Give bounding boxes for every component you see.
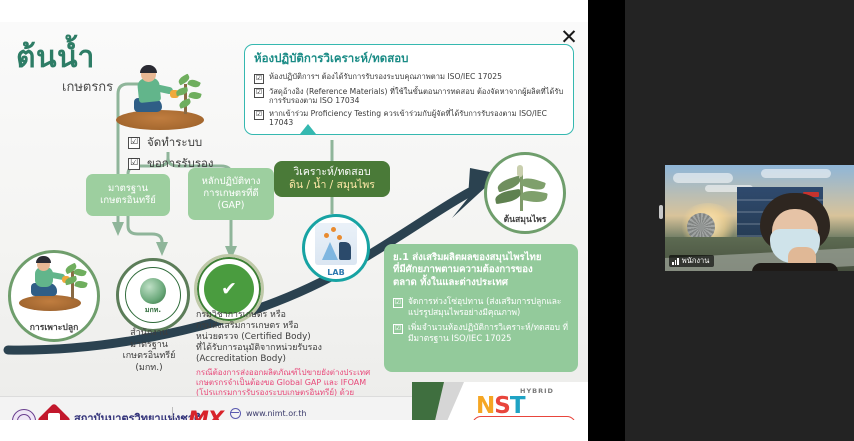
herb-label: ต้นสมุนไพร [487,212,563,226]
department-text: กรมวิชาการเกษตร หรือ กรมส่งเสริมการเกษตร… [196,310,392,365]
organic-standard-box: มาตรฐาน เกษตรอินทรีย์ [86,174,170,216]
footer-divider [172,407,173,420]
strategy-title: ย.1 ส่งเสริมผลิตผลของสมุนไพรไทย ที่มีศัก… [393,252,569,289]
url-row[interactable]: www.nimt.or.th [230,408,327,419]
mx-logo: MX [188,407,223,420]
microscope-icon [339,242,351,260]
farmer-checklist-text: จัดทำระบบ [147,134,202,152]
video-drag-handle[interactable] [659,205,663,219]
nst-hybrid-label: HYBRID [520,387,554,395]
lab-requirement-text: วัสดุอ้างอิง (Reference Materials) ที่ใช… [269,87,565,106]
nst-fair-year: 2O2O [522,419,556,421]
molecule-icon [324,227,342,241]
farmer-illustration [112,62,212,132]
strategy-item: ☑ เพิ่มจำนวนห้องปฏิบัติการวิเคราะห์/ทดสอ… [393,322,569,343]
flask-icon [322,242,338,260]
lab-requirements-box: ห้องปฏิบัติการวิเคราะห์/ทดสอบ ☑ ห้องปฏิบ… [244,44,574,135]
participant-name: พนักงาน [682,255,710,267]
checkbox-icon: ☑ [393,298,403,308]
checkbox-icon: ☑ [254,110,264,120]
department-description: กรมวิชาการเกษตร หรือ กรมส่งเสริมการเกษตร… [196,310,392,398]
panel-gutter [588,0,625,441]
cultivation-node: การเพาะปลูก [8,250,100,342]
globe-icon [230,408,241,419]
gap-practice-box: หลักปฏิบัติทาง การเกษตรที่ดี (GAP) [188,168,274,220]
checkbox-icon: ☑ [128,137,140,149]
presentation-slide: ต้นน้ำ เกษตรกร ห้องปฏิบัติการวิเ [0,22,588,420]
strategy-item-text: จัดการห่วงโซ่อุปทาน (ส่งเสริมการปลูกและแ… [408,296,569,317]
checkbox-icon: ☑ [254,74,264,84]
lab-label: LAB [305,268,367,277]
mkk-badge-label: มกท. [145,305,161,316]
mkk-certification-node: มกท. [116,258,190,332]
slide-top-margin [0,0,588,22]
lab-requirement-item: ☑ ห้องปฏิบัติการฯ ต้องได้รับการรับรองระบ… [254,72,565,84]
lab-requirement-item: ☑ วัสดุอ้างอิง (Reference Materials) ที่… [254,87,565,106]
farmer-checklist-item: ☑ จัดทำระบบ [128,134,214,152]
strategy-panel: ย.1 ส่งเสริมผลิตผลของสมุนไพรไทย ที่มีศัก… [384,244,578,372]
close-icon[interactable]: ✕ [558,26,580,48]
analysis-test-title: วิเคราะห์/ทดสอบ [293,166,370,179]
signal-bars-icon [672,257,679,265]
app-root: ✕ [0,0,854,441]
footer-urls: www.nimt.or.th http://mx.nimt.or.th/ [230,408,327,420]
farmer-label: เกษตรกร [62,76,113,97]
callout-pointer-icon [300,124,316,134]
herb-node: ต้นสมุนไพร [484,152,566,234]
check-icon: ✔ [204,264,254,314]
nst-fair-label: FAIR [492,419,519,421]
nimt-logo-icon [37,403,71,420]
participant-avatar [752,193,838,271]
lab-requirement-text: ห้องปฏิบัติการฯ ต้องได้รับการรับรองระบบค… [269,72,502,82]
page-title: ต้นน้ำ [16,34,95,81]
participant-name-badge: พนักงาน [669,255,714,267]
video-rail: พนักงาน [625,0,854,441]
lab-node: LAB [302,214,370,282]
slide-bottom-margin [0,420,588,441]
nst-fair-badge: FAIR 2O2O [472,416,576,420]
mkk-globe-icon [140,278,166,304]
cultivation-label: การเพาะปลูก [11,320,97,334]
analysis-test-box: วิเคราะห์/ทดสอบ ดิน / น้ำ / สมุนไพร [274,161,390,197]
checkbox-icon: ☑ [254,88,264,98]
screen-share-panel: ✕ [0,0,588,441]
checkbox-icon: ☑ [393,324,403,334]
mkk-caption: สำนักงาน มาตรฐาน เกษตรอินทรีย์ (มกท.) [110,328,188,374]
checkbox-icon: ☑ [128,158,140,170]
lab-requirements-title: ห้องปฏิบัติการวิเคราะห์/ทดสอบ [254,50,565,68]
export-note: กรณีต้องการส่งออกผลิตภัณฑ์ไปขายยังต่างปร… [196,368,392,398]
strategy-item-text: เพิ่มจำนวนห้องปฏิบัติการวิเคราะห์/ทดสอบ … [408,322,569,343]
strategy-item: ☑ จัดการห่วงโซ่อุปทาน (ส่งเสริมการปลูกแล… [393,296,569,317]
organization-name: สถาบันมาตรวิทยาแห่งชาติ [74,409,201,420]
royal-seal-icon [12,409,36,420]
url-text: www.nimt.or.th [246,409,306,418]
analysis-test-subtitle: ดิน / น้ำ / สมุนไพร [289,179,375,192]
participant-video-tile[interactable]: พนักงาน [665,165,854,271]
